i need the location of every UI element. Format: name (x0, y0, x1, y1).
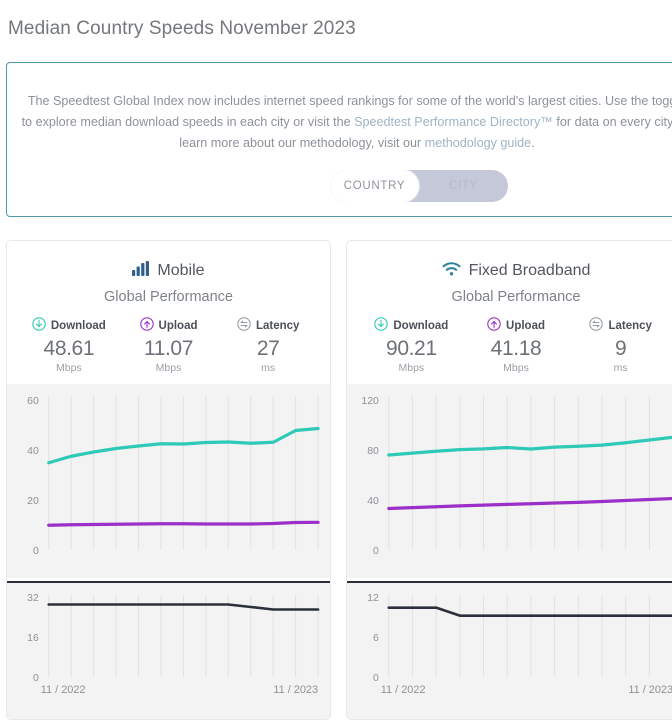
svg-text:20: 20 (27, 496, 39, 507)
svg-text:0: 0 (33, 673, 39, 684)
mobile-download-label: Download (51, 320, 106, 332)
toggle-option-country[interactable]: COUNTRY (330, 170, 419, 202)
fixed-broadband-panel-header: Fixed Broadband (347, 251, 672, 291)
svg-text:6: 6 (373, 633, 379, 644)
fixed-broadband-stat-latency: Latency 9 ms (568, 317, 672, 374)
mobile-speed-chart-svg: 0204060 (7, 384, 330, 578)
svg-text:16: 16 (27, 633, 39, 644)
latency-arrows-icon (589, 317, 603, 334)
mobile-panel-title: Mobile (157, 262, 204, 280)
mobile-stat-upload: Upload 11.07 Mbps (119, 317, 219, 374)
mobile-latency-unit: ms (218, 362, 318, 374)
fixed-broadband-speed-chart-svg: 04080120 (347, 384, 672, 578)
country-city-toggle[interactable]: COUNTRY CITY (330, 170, 508, 202)
svg-text:11 / 2022: 11 / 2022 (41, 684, 86, 696)
mobile-stats-row: Download 48.61 Mbps Upload 11.07 Mbps (7, 317, 330, 374)
svg-text:120: 120 (361, 396, 379, 407)
svg-text:60: 60 (27, 396, 39, 407)
latency-arrows-icon (237, 317, 251, 334)
fixed-broadband-latency-value: 9 (568, 337, 672, 361)
fixed-broadband-stat-upload: Upload 41.18 Mbps (464, 317, 569, 374)
svg-text:11 / 2022: 11 / 2022 (381, 684, 426, 696)
mobile-stat-download: Download 48.61 Mbps (19, 317, 119, 374)
wifi-icon (442, 262, 461, 281)
fixed-broadband-latency-unit: ms (568, 362, 672, 374)
svg-text:11 / 2023: 11 / 2023 (628, 684, 672, 696)
svg-text:12: 12 (367, 593, 379, 604)
speedtest-performance-directory-link[interactable]: Speedtest Performance Directory™ (354, 115, 553, 129)
fixed-broadband-download-value: 90.21 (359, 337, 464, 361)
speedtest-global-index-page: Median Country Speeds November 2023 The … (0, 0, 672, 720)
fixed-broadband-latency-chart-svg: 061211 / 202211 / 2023 (347, 583, 672, 720)
fixed-broadband-stat-download: Download 90.21 Mbps (359, 317, 464, 374)
mobile-latency-chart-svg: 0163211 / 202211 / 2023 (7, 583, 330, 720)
methodology-guide-link[interactable]: methodology guide (425, 136, 531, 150)
fixed-broadband-latency-label: Latency (608, 320, 651, 332)
upload-arrow-icon (487, 317, 501, 334)
info-banner-text: The Speedtest Global Index now includes … (7, 91, 672, 154)
mobile-download-unit: Mbps (19, 362, 119, 374)
fixed-broadband-speed-chart: 04080120 (347, 384, 672, 578)
svg-text:0: 0 (33, 546, 39, 557)
fixed-broadband-global-performance-label: Global Performance (347, 289, 672, 305)
fixed-broadband-download-unit: Mbps (359, 362, 464, 374)
download-arrow-icon (32, 317, 46, 334)
fixed-broadband-upload-unit: Mbps (464, 362, 569, 374)
svg-text:11 / 2023: 11 / 2023 (273, 684, 318, 696)
mobile-global-performance-label: Global Performance (7, 289, 330, 305)
fixed-broadband-panel: Fixed Broadband Global Performance Downl… (346, 240, 672, 720)
svg-text:40: 40 (367, 496, 379, 507)
mobile-upload-unit: Mbps (119, 362, 219, 374)
fixed-broadband-latency-chart: 061211 / 202211 / 2023 (347, 581, 672, 720)
svg-text:32: 32 (27, 593, 39, 604)
mobile-stat-latency: Latency 27 ms (218, 317, 318, 374)
fixed-broadband-panel-title: Fixed Broadband (469, 262, 591, 280)
svg-text:80: 80 (367, 446, 379, 457)
fixed-broadband-stats-row: Download 90.21 Mbps Upload 41.18 Mbps (347, 317, 672, 374)
download-arrow-icon (374, 317, 388, 334)
mobile-panel: Mobile Global Performance Download 48.61… (6, 240, 331, 720)
mobile-latency-label: Latency (256, 320, 299, 332)
fixed-broadband-upload-label: Upload (506, 320, 545, 332)
mobile-speed-chart: 0204060 (7, 384, 330, 578)
mobile-download-value: 48.61 (19, 337, 119, 361)
svg-text:0: 0 (373, 673, 379, 684)
mobile-latency-chart: 0163211 / 202211 / 2023 (7, 581, 330, 720)
mobile-upload-label: Upload (159, 320, 198, 332)
info-text-part3: . (531, 136, 535, 150)
page-title: Median Country Speeds November 2023 (8, 18, 356, 40)
toggle-option-city[interactable]: CITY (419, 170, 508, 202)
fixed-broadband-upload-value: 41.18 (464, 337, 569, 361)
mobile-upload-value: 11.07 (119, 337, 219, 361)
mobile-panel-header: Mobile (7, 251, 330, 291)
svg-text:0: 0 (373, 546, 379, 557)
svg-text:40: 40 (27, 446, 39, 457)
fixed-broadband-download-label: Download (393, 320, 448, 332)
signal-bars-icon (132, 261, 149, 281)
upload-arrow-icon (140, 317, 154, 334)
mobile-latency-value: 27 (218, 337, 318, 361)
